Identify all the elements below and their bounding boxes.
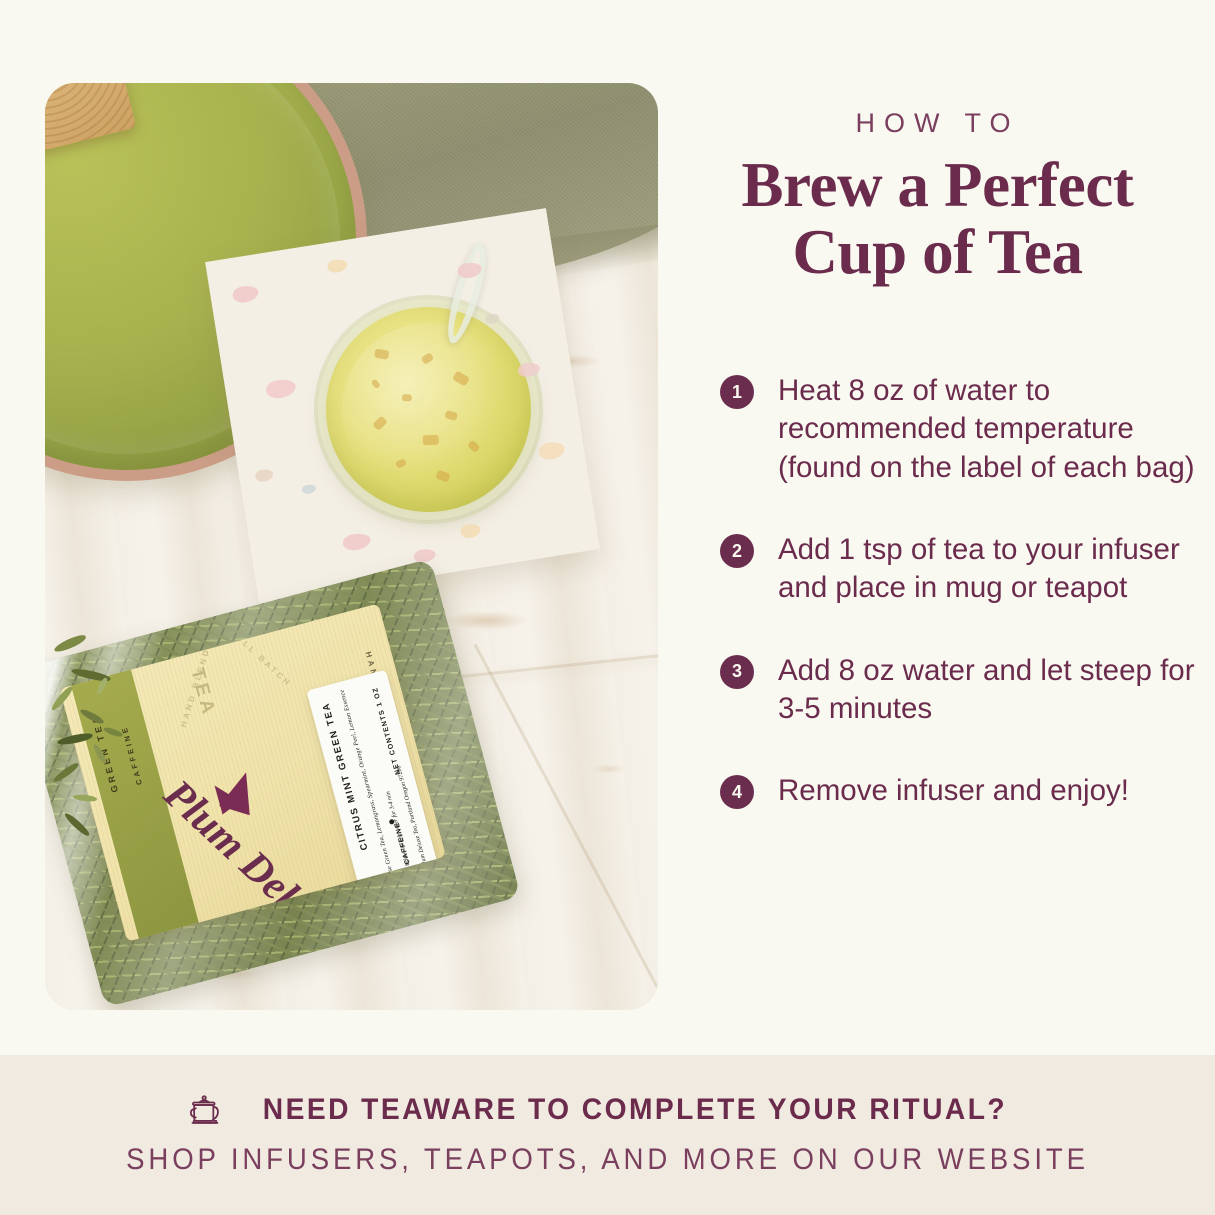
tea-leaf-fleck xyxy=(371,379,381,390)
terrazzo-chip xyxy=(326,258,348,274)
tea-leaf-fleck xyxy=(374,349,389,360)
page-title: Brew a Perfect Cup of Tea xyxy=(660,152,1215,286)
tea-leaf-fleck xyxy=(372,415,388,431)
step-item-4: 4Remove infuser and enjoy! xyxy=(720,772,1215,810)
teapot-icon xyxy=(185,1090,225,1130)
instructions-panel: HOW TO Brew a Perfect Cup of Tea 1Heat 8… xyxy=(660,0,1215,1045)
tea-leaf-fleck xyxy=(467,440,481,453)
infographic-page: GREEN TEA CAFFEINE TEA SMALL BATCH HAND … xyxy=(0,0,1215,1215)
terrazzo-chip xyxy=(301,484,316,495)
footer-line-1: NEED TEAWARE TO COMPLETE YOUR RITUAL? xyxy=(262,1093,1006,1127)
step-text: Add 1 tsp of tea to your infuser and pla… xyxy=(778,531,1215,608)
cracker xyxy=(45,83,136,172)
tea-leaf-fleck xyxy=(421,352,435,365)
step-text: Heat 8 oz of water to recommended temper… xyxy=(778,372,1215,487)
footer-banner[interactable]: NEED TEAWARE TO COMPLETE YOUR RITUAL? SH… xyxy=(0,1055,1215,1215)
terrazzo-chip xyxy=(485,313,500,325)
step-number-badge: 3 xyxy=(720,655,754,689)
title-line-1: Brew a Perfect xyxy=(742,150,1134,220)
title-line-2: Cup of Tea xyxy=(792,217,1082,287)
glass-tea-mug xyxy=(311,292,546,527)
footer-line-2: SHOP INFUSERS, TEAPOTS, AND MORE ON OUR … xyxy=(49,1143,1167,1177)
terrazzo-chip xyxy=(538,440,566,461)
step-item-3: 3Add 8 oz water and let steep for 3-5 mi… xyxy=(720,652,1215,729)
tea-leaf-fleck xyxy=(435,469,450,482)
step-item-1: 1Heat 8 oz of water to recommended tempe… xyxy=(720,372,1215,487)
tea-leaf-fleck xyxy=(444,410,458,421)
footer-headline-row: NEED TEAWARE TO COMPLETE YOUR RITUAL? xyxy=(0,1090,1215,1130)
tea-leaf-fleck xyxy=(423,435,439,445)
tea-leaf-fleck xyxy=(395,458,407,468)
step-number-badge: 2 xyxy=(720,534,754,568)
step-text: Remove infuser and enjoy! xyxy=(778,772,1129,810)
step-number-badge: 4 xyxy=(720,775,754,809)
tea-leaf-fleck xyxy=(402,394,412,402)
hero-photo: GREEN TEA CAFFEINE TEA SMALL BATCH HAND … xyxy=(45,83,658,1010)
label-net-contents: NET CONTENTS 1 OZ xyxy=(372,686,402,775)
terrazzo-tile xyxy=(205,208,600,603)
step-number-badge: 1 xyxy=(720,375,754,409)
kicker-text: HOW TO xyxy=(660,108,1215,139)
terrazzo-chip xyxy=(459,522,481,539)
step-text: Add 8 oz water and let steep for 3-5 min… xyxy=(778,652,1215,729)
tea-leaf-fleck xyxy=(452,370,470,386)
terrazzo-chip xyxy=(232,284,260,304)
cracker xyxy=(45,83,89,185)
terrazzo-chip xyxy=(342,532,372,552)
steps-list: 1Heat 8 oz of water to recommended tempe… xyxy=(720,372,1215,811)
terrazzo-chip xyxy=(265,378,297,400)
terrazzo-chip xyxy=(254,468,274,483)
step-item-2: 2Add 1 tsp of tea to your infuser and pl… xyxy=(720,531,1215,608)
terrazzo-chip xyxy=(517,361,541,378)
label-address: Plum Deluxe Tea, Portland Oregon 97206 xyxy=(395,765,429,868)
